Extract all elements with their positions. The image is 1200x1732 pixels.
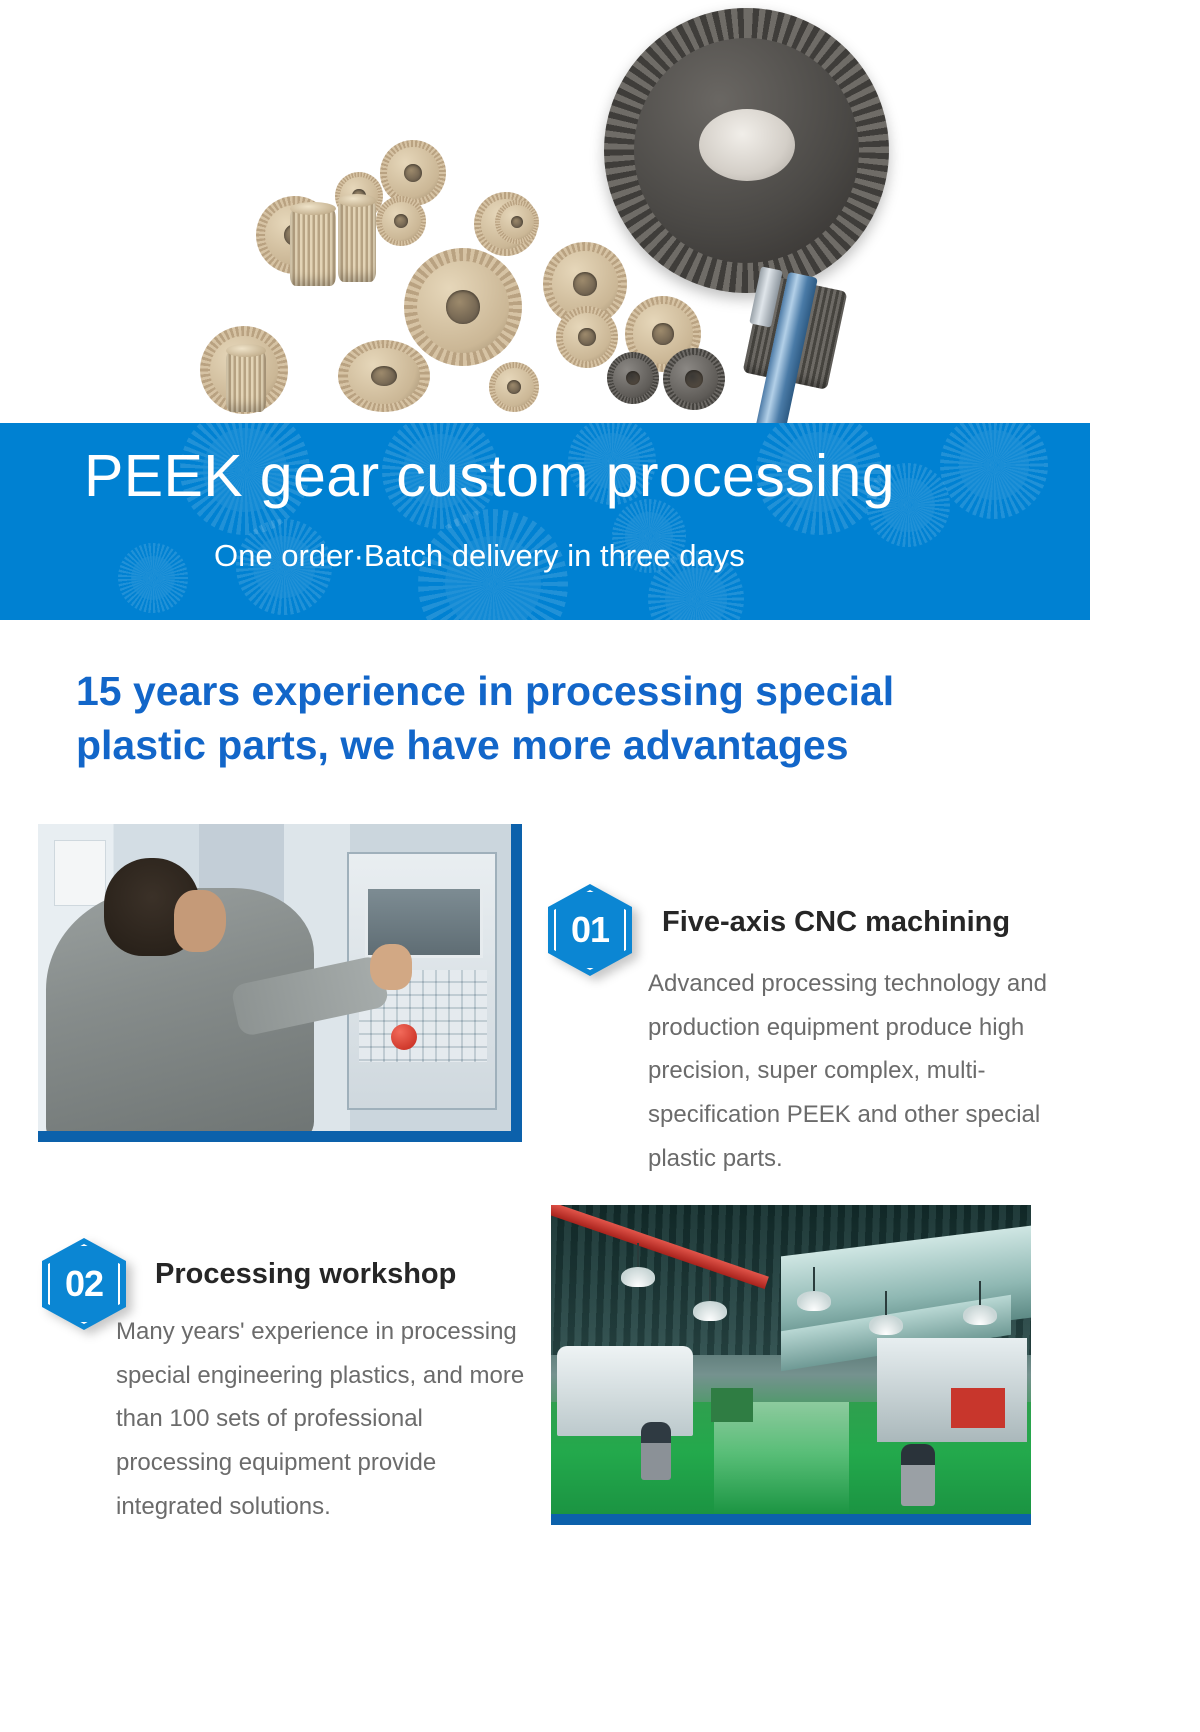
peek-gear <box>489 362 539 412</box>
section-01-title: Five-axis CNC machining <box>662 906 1010 939</box>
section-02-image <box>551 1205 1031 1525</box>
headline-line-2: plastic parts, we have more advantages <box>76 718 1086 772</box>
section-02-title: Processing workshop <box>155 1258 456 1291</box>
peek-gear <box>495 200 539 244</box>
peek-gear-large <box>404 248 522 366</box>
peek-cylindrical-gear <box>290 208 336 286</box>
section-02-badge: 02 <box>42 1238 126 1330</box>
dark-gear <box>663 348 725 410</box>
large-helical-gear <box>604 8 889 293</box>
peek-cylindrical-gear <box>226 350 266 412</box>
product-landing-page: PEEK gear custom processing One order·Ba… <box>0 0 1200 1732</box>
peek-gear <box>556 306 618 368</box>
section-01-number: 01 <box>548 884 632 976</box>
section-02-number: 02 <box>42 1238 126 1330</box>
peek-gear <box>376 196 426 246</box>
banner-title: PEEK gear custom processing <box>84 443 1044 509</box>
section-01-image <box>38 824 522 1142</box>
section-01-body: Advanced processing technology and produ… <box>648 962 1086 1180</box>
page-headline: 15 years experience in processing specia… <box>76 664 1086 772</box>
dark-gear <box>607 352 659 404</box>
hero-banner: PEEK gear custom processing One order·Ba… <box>0 423 1090 620</box>
section-01-badge: 01 <box>548 884 632 976</box>
peek-cylindrical-gear <box>338 200 376 282</box>
headline-line-1: 15 years experience in processing specia… <box>76 664 1086 718</box>
hero-gear-photo <box>0 0 1090 423</box>
peek-gear <box>338 340 430 412</box>
section-02-body: Many years' experience in processing spe… <box>116 1310 536 1528</box>
banner-subtitle: One order·Batch delivery in three days <box>214 538 745 574</box>
peek-gear <box>380 140 446 206</box>
